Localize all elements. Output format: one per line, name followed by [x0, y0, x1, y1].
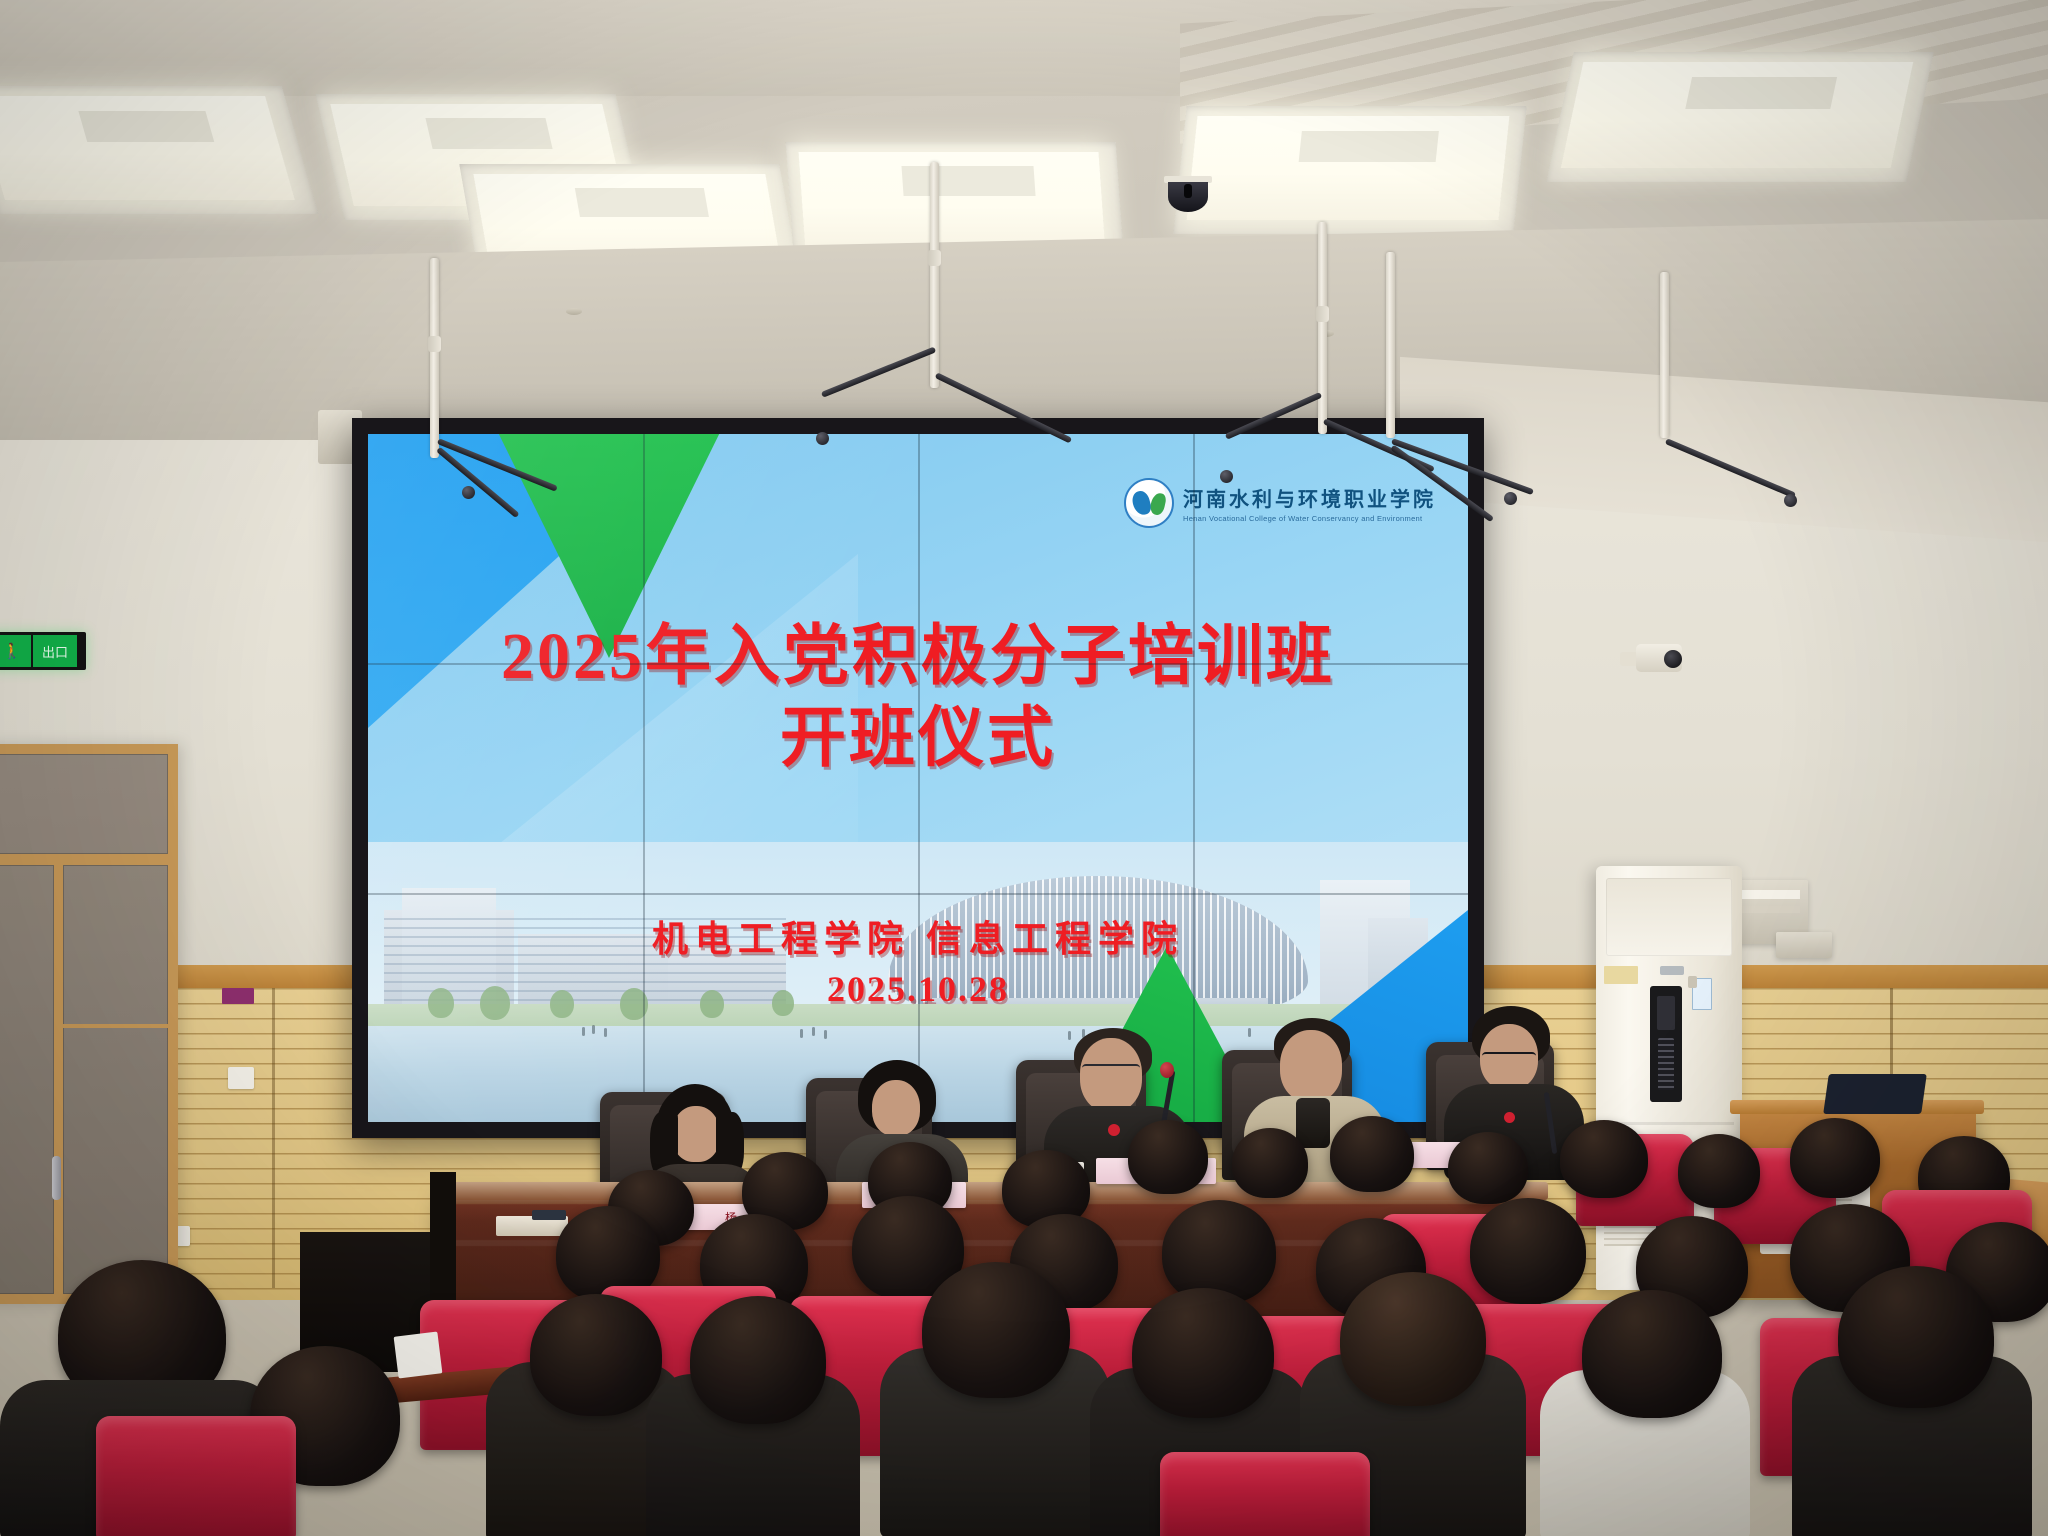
mic-capsule-5 [1784, 494, 1797, 507]
ac-display-panel[interactable] [1650, 986, 1682, 1102]
audience-head [1340, 1272, 1486, 1406]
handout-paper [394, 1331, 443, 1378]
lecture-hall-photo: 🚶 出口 [0, 0, 2048, 1536]
mic-capsule-2 [816, 432, 829, 445]
mic-pole-3 [1318, 222, 1327, 434]
audience-head [1162, 1200, 1276, 1304]
sprinkler-head [566, 308, 582, 315]
mic-pole-2 [930, 162, 939, 388]
ceiling-light-4 [799, 152, 1106, 252]
college-name-cn: 河南水利与环境职业学院 [1183, 483, 1436, 512]
running-man-icon: 🚶 [0, 635, 31, 667]
exit-sign-text: 出口 [33, 635, 77, 667]
door-handle[interactable] [52, 1156, 61, 1200]
audience-head [922, 1262, 1070, 1398]
audience-head [690, 1296, 826, 1424]
college-emblem-icon [1124, 478, 1174, 528]
desk-mic-head [1160, 1062, 1174, 1078]
audience-head [1678, 1134, 1760, 1208]
audience-head [1790, 1118, 1880, 1198]
college-name-en: Henan Vocational College of Water Conser… [1183, 514, 1436, 523]
ac-warning-label [1604, 966, 1638, 984]
glasses-icon [1082, 1064, 1140, 1076]
mic-pole-clip-1 [428, 336, 441, 352]
phone [532, 1210, 566, 1220]
exit-sign: 🚶 出口 [0, 632, 86, 670]
audience-head [1232, 1128, 1308, 1198]
ceiling-light-5 [1187, 116, 1510, 220]
mic-pole-5 [1660, 272, 1669, 438]
audience-head [1838, 1266, 1994, 1408]
party-badge-2 [1504, 1112, 1515, 1123]
ceiling-light-6 [1561, 62, 1914, 168]
wall-camera-icon [1620, 636, 1692, 690]
audience-head [530, 1294, 662, 1416]
wall-outlet-icon [228, 1067, 254, 1089]
door[interactable] [0, 744, 178, 1304]
seat-back-front-left[interactable] [96, 1416, 296, 1536]
ac-brand-logo [1660, 966, 1684, 975]
audience-head [1470, 1198, 1586, 1304]
ceiling-light-1 [0, 96, 295, 200]
wall-label-sign [222, 988, 254, 1004]
mic-pole-clip-2 [928, 250, 941, 266]
mic-pole-clip-3 [1316, 306, 1329, 322]
glasses-icon-2 [1482, 1052, 1536, 1064]
dome-camera-icon [1160, 176, 1216, 218]
audience-head [1582, 1290, 1722, 1418]
college-logo: 河南水利与环境职业学院 Henan Vocational College of … [1124, 478, 1436, 528]
mic-capsule-1 [462, 486, 475, 499]
audience-head [1128, 1120, 1208, 1194]
wall-junction-box [1776, 932, 1832, 958]
mic-capsule-4 [1504, 492, 1517, 505]
audience-head [1448, 1132, 1528, 1204]
mic-pole-1 [430, 258, 439, 458]
audience-head [1132, 1288, 1274, 1418]
party-badge [1108, 1124, 1120, 1136]
mic-capsule-3 [1220, 470, 1233, 483]
audience-head [1330, 1116, 1414, 1192]
laptop[interactable] [1823, 1074, 1927, 1114]
wainscot-seam-3 [272, 988, 275, 1288]
audience-head [1560, 1120, 1648, 1198]
seat-back-front-mid[interactable] [1160, 1452, 1370, 1536]
mic-pole-4 [1386, 252, 1395, 438]
